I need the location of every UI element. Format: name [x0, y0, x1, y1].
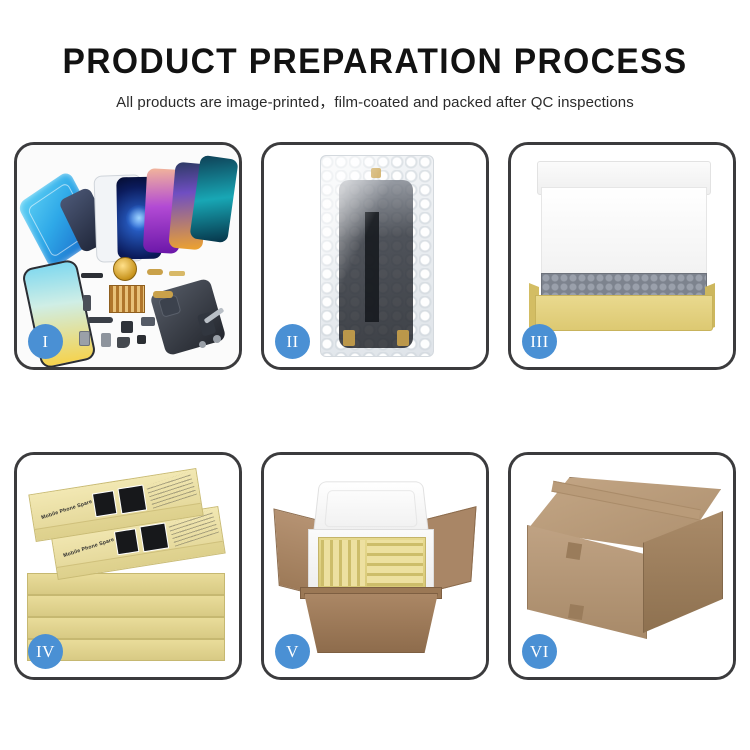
screw-part — [199, 341, 206, 348]
spare-part — [81, 273, 103, 278]
process-step-panel-6[interactable]: VI — [508, 452, 736, 680]
white-foam-sheet — [541, 187, 707, 275]
step-badge-4: IV — [28, 634, 63, 669]
spare-part — [153, 291, 173, 298]
box-window-left — [114, 528, 139, 555]
spare-part — [137, 335, 146, 344]
page-header: PRODUCT PREPARATION PROCESS All products… — [0, 0, 750, 112]
stacked-box-slab — [27, 617, 225, 639]
page-title: PRODUCT PREPARATION PROCESS — [15, 0, 735, 82]
process-step-panel-5[interactable]: V — [261, 452, 489, 680]
step-badge-5: V — [275, 634, 310, 669]
step-badge-3: III — [522, 324, 557, 359]
carton-front-panel — [304, 593, 438, 653]
spare-part — [117, 337, 130, 348]
box-front-panel — [535, 295, 713, 331]
process-step-panel-4[interactable]: Mobile Phone Spare Parts Mobile Phone Sp… — [14, 452, 242, 680]
spare-part — [79, 331, 90, 346]
plastic-sheen — [321, 156, 433, 356]
spare-part — [141, 317, 155, 326]
step-badge-2: II — [275, 324, 310, 359]
process-step-grid: I II III — [14, 142, 737, 680]
spare-part — [121, 321, 133, 333]
chip-array-part — [109, 285, 145, 313]
process-step-panel-2[interactable]: II — [261, 142, 489, 370]
vibration-motor-part — [113, 257, 137, 281]
spare-part — [147, 269, 163, 275]
spare-part — [87, 317, 113, 323]
box-window-right — [139, 523, 169, 553]
spare-part — [83, 295, 91, 311]
box-window-left — [92, 490, 117, 517]
carton-seam — [566, 542, 582, 560]
step-badge-6: VI — [522, 634, 557, 669]
process-step-panel-1[interactable]: I — [14, 142, 242, 370]
packed-kraft-boxes — [318, 537, 426, 589]
process-step-panel-3[interactable]: III — [508, 142, 736, 370]
box-window-right — [117, 485, 147, 515]
page-subtitle: All products are image-printed，film-coat… — [0, 82, 750, 112]
stacked-box-slab — [27, 595, 225, 617]
screw-part — [213, 335, 221, 343]
bubble-wrap-bag — [320, 155, 434, 357]
spare-part — [101, 333, 111, 347]
carton-seam — [568, 604, 584, 620]
spare-part — [169, 271, 185, 276]
step-badge-1: I — [28, 324, 63, 359]
